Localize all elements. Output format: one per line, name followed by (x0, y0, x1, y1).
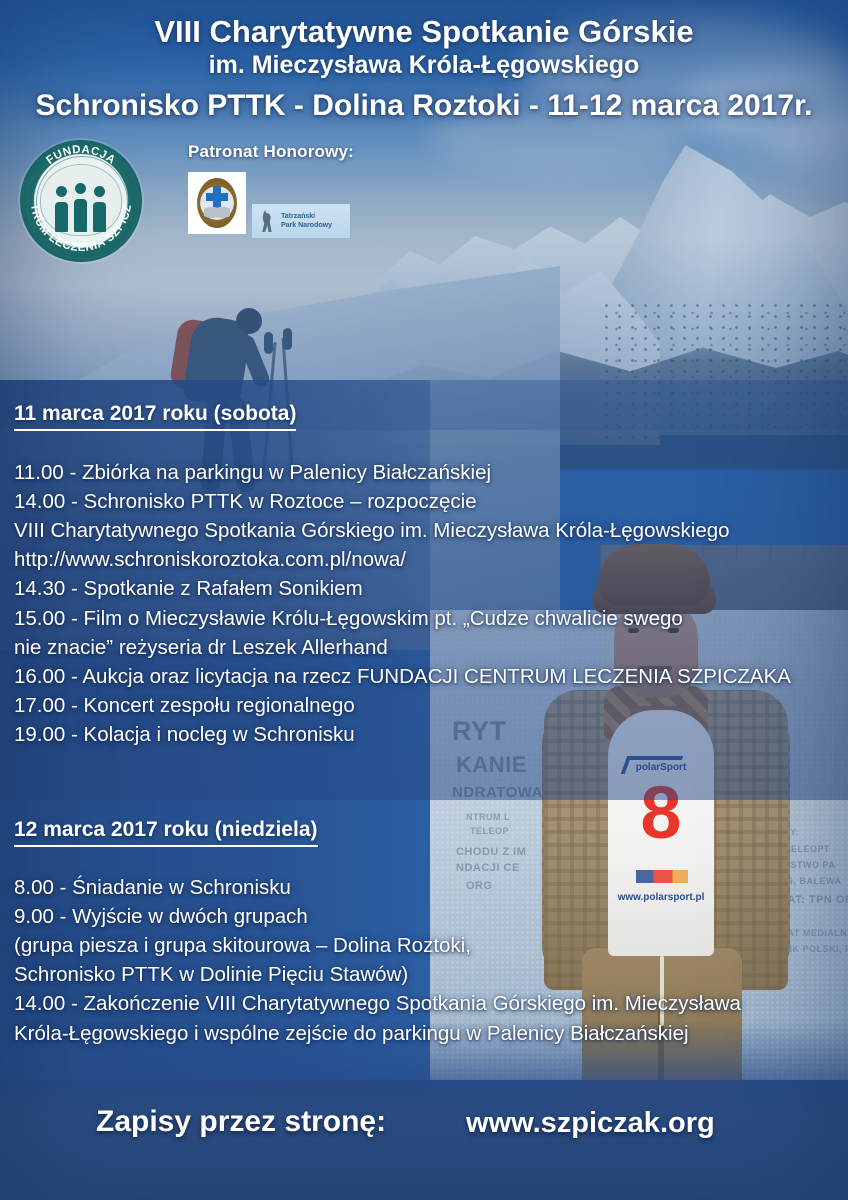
schedule-item: nie znacie” reżyseria dr Leszek Allerhan… (14, 633, 844, 662)
saturday-heading: 11 marca 2017 roku (sobota) (14, 402, 296, 431)
poster-content: VIII Charytatywne Spotkanie Górskie im. … (0, 0, 848, 1200)
schedule-item: Schronisko PTTK w Dolinie Pięciu Stawów) (14, 960, 844, 989)
sunday-heading: 12 marca 2017 roku (niedziela) (14, 818, 318, 847)
tpn-label: Tatrzański Park Narodowy (281, 212, 332, 231)
sunday-heading-wrap: 12 marca 2017 roku (niedziela) (14, 818, 844, 847)
title-line-2: im. Mieczysława Króla-Łęgowskiego (0, 50, 848, 81)
schedule-item: VIII Charytatywnego Spotkania Górskiego … (14, 516, 844, 545)
schedule-item: 14.30 - Spotkanie z Rafałem Sonikiem (14, 574, 844, 603)
seal-arc-top: FUNDACJA (44, 144, 117, 167)
schedule-item: Króla-Łęgowskiego i wspólne zejście do p… (14, 1019, 844, 1048)
schedule-item: 17.00 - Koncert zespołu regionalnego (14, 691, 844, 720)
signup-label: Zapisy przez stronę: (96, 1105, 386, 1139)
saturday-heading-wrap: 11 marca 2017 roku (sobota) (14, 402, 844, 431)
schedule-item: 15.00 - Film o Mieczysławie Królu-Łęgows… (14, 604, 844, 633)
tatrzanski-park-narodowy-logo: Tatrzański Park Narodowy (252, 204, 350, 238)
schedule-item: 16.00 - Aukcja oraz licytacja na rzecz F… (14, 662, 844, 691)
schedule-item-url[interactable]: http://www.schroniskoroztoka.com.pl/nowa… (14, 545, 844, 574)
schedule-item: 14.00 - Zakończenie VIII Charytatywnego … (14, 989, 844, 1018)
title-line-1: VIII Charytatywne Spotkanie Górskie (0, 14, 848, 50)
chamois-icon (258, 210, 276, 232)
schedule-item: 11.00 - Zbiórka na parkingu w Palenicy B… (14, 458, 844, 487)
tpn-line-2: Park Narodowy (281, 221, 332, 230)
foundation-logo: FUNDACJA CENTRUM LECZENIA SZPICZAKA (20, 140, 142, 262)
schedule-item: 8.00 - Śniadanie w Schronisku (14, 873, 844, 902)
hands-icon (204, 206, 230, 222)
signup-url[interactable]: www.szpiczak.org (466, 1107, 715, 1140)
title-line-3: Schronisko PTTK - Dolina Roztoki - 11-12… (0, 88, 848, 124)
saturday-event-list: 11.00 - Zbiórka na parkingu w Palenicy B… (14, 458, 844, 749)
poster-root: RYT KANIE NDRATOWA NTRUM L TELEOP CHODU … (0, 0, 848, 1200)
topr-oval (197, 178, 237, 228)
schedule-item: 9.00 - Wyjście w dwóch grupach (14, 902, 844, 931)
schedule-item: 14.00 - Schronisko PTTK w Roztoce – rozp… (14, 487, 844, 516)
schedule-item: 19.00 - Kolacja i nocleg w Schronisku (14, 720, 844, 749)
tpn-line-1: Tatrzański (281, 212, 332, 221)
poster-title-block: VIII Charytatywne Spotkanie Górskie im. … (0, 14, 848, 124)
patronage-label: Patronat Honorowy: (188, 142, 354, 162)
topr-emblem-icon (188, 172, 246, 234)
sunday-event-list: 8.00 - Śniadanie w Schronisku 9.00 - Wyj… (14, 873, 844, 1048)
schedule-item: (grupa piesza i grupa skitourowa – Dolin… (14, 931, 844, 960)
blue-cross-icon (206, 186, 228, 208)
seal-arc-text: FUNDACJA CENTRUM LECZENIA SZPICZAKA (20, 140, 142, 262)
